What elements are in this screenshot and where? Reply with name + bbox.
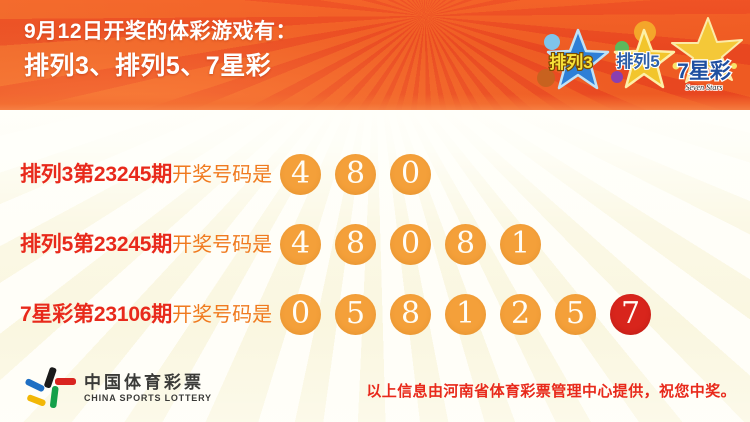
qixingcai-logo-subtitle: Seven Stars bbox=[685, 83, 722, 92]
number-ball: 2 bbox=[500, 294, 541, 335]
header-text-block: 9月12日开奖的体彩游戏有： 排列3、排列5、7星彩 bbox=[24, 18, 297, 83]
brand-text: 中国体育彩票 CHINA SPORTS LOTTERY bbox=[84, 374, 212, 403]
china-sports-lottery-logo-icon bbox=[24, 366, 76, 410]
brand-lockup: 中国体育彩票 CHINA SPORTS LOTTERY bbox=[24, 366, 212, 410]
lottery-result-poster: 9月12日开奖的体彩游戏有： 排列3、排列5、7星彩 排列3 排列5 bbox=[0, 0, 750, 422]
number-ball: 5 bbox=[335, 294, 376, 335]
result-row-label: 排列3第23245期开奖号码是 bbox=[20, 164, 272, 185]
result-issue-label: 排列5第23245期 bbox=[20, 233, 172, 256]
qixingcai-logo: 7星彩 Seven Stars bbox=[664, 14, 744, 100]
brand-name-en: CHINA SPORTS LOTTERY bbox=[84, 394, 212, 403]
number-ball: 4 bbox=[280, 224, 321, 265]
number-ball: 0 bbox=[390, 154, 431, 195]
result-row-label: 排列5第23245期开奖号码是 bbox=[20, 234, 272, 255]
results-list: 排列3第23245期开奖号码是 4 8 0 排列5第23245期开奖号码是 4 … bbox=[0, 110, 750, 355]
number-ball: 0 bbox=[280, 294, 321, 335]
result-suffix-label: 开奖号码是 bbox=[172, 304, 272, 326]
footer: 中国体育彩票 CHINA SPORTS LOTTERY 以上信息由河南省体育彩票… bbox=[0, 358, 750, 422]
footer-disclaimer: 以上信息由河南省体育彩票管理中心提供，祝您中奖。 bbox=[366, 380, 736, 401]
header-games-line: 排列3、排列5、7星彩 bbox=[24, 49, 297, 83]
result-row-label: 7星彩第23106期开奖号码是 bbox=[20, 304, 272, 325]
result-row: 排列5第23245期开奖号码是 4 8 0 8 1 bbox=[20, 220, 735, 268]
number-ball: 1 bbox=[445, 294, 486, 335]
number-ball: 8 bbox=[335, 224, 376, 265]
result-suffix-label: 开奖号码是 bbox=[172, 164, 272, 186]
number-ball: 5 bbox=[555, 294, 596, 335]
result-number-balls: 0 5 8 1 2 5 7 bbox=[280, 294, 651, 335]
number-ball: 0 bbox=[390, 224, 431, 265]
number-ball: 8 bbox=[390, 294, 431, 335]
number-ball: 4 bbox=[280, 154, 321, 195]
result-suffix-label: 开奖号码是 bbox=[172, 234, 272, 256]
header-date-line: 9月12日开奖的体彩游戏有： bbox=[24, 18, 297, 46]
number-ball: 8 bbox=[445, 224, 486, 265]
result-number-balls: 4 8 0 8 1 bbox=[280, 224, 541, 265]
qixingcai-logo-label: 7星彩 bbox=[677, 60, 731, 83]
number-ball-special: 7 bbox=[610, 294, 651, 335]
number-ball: 8 bbox=[335, 154, 376, 195]
game-logo-group: 排列3 排列5 7星彩 Seven Stars bbox=[532, 14, 742, 100]
brand-name-cn: 中国体育彩票 bbox=[84, 374, 212, 391]
result-number-balls: 4 8 0 bbox=[280, 154, 431, 195]
result-issue-label: 7星彩第23106期 bbox=[20, 303, 172, 326]
result-row: 排列3第23245期开奖号码是 4 8 0 bbox=[20, 150, 735, 198]
pailie5-logo-label: 排列5 bbox=[616, 51, 659, 71]
result-row: 7星彩第23106期开奖号码是 0 5 8 1 2 5 7 bbox=[20, 290, 735, 338]
number-ball: 1 bbox=[500, 224, 541, 265]
qixingcai-star-icon: 7星彩 Seven Stars bbox=[664, 14, 744, 100]
pailie3-logo-label: 排列3 bbox=[549, 52, 592, 72]
result-issue-label: 排列3第23245期 bbox=[20, 163, 172, 186]
